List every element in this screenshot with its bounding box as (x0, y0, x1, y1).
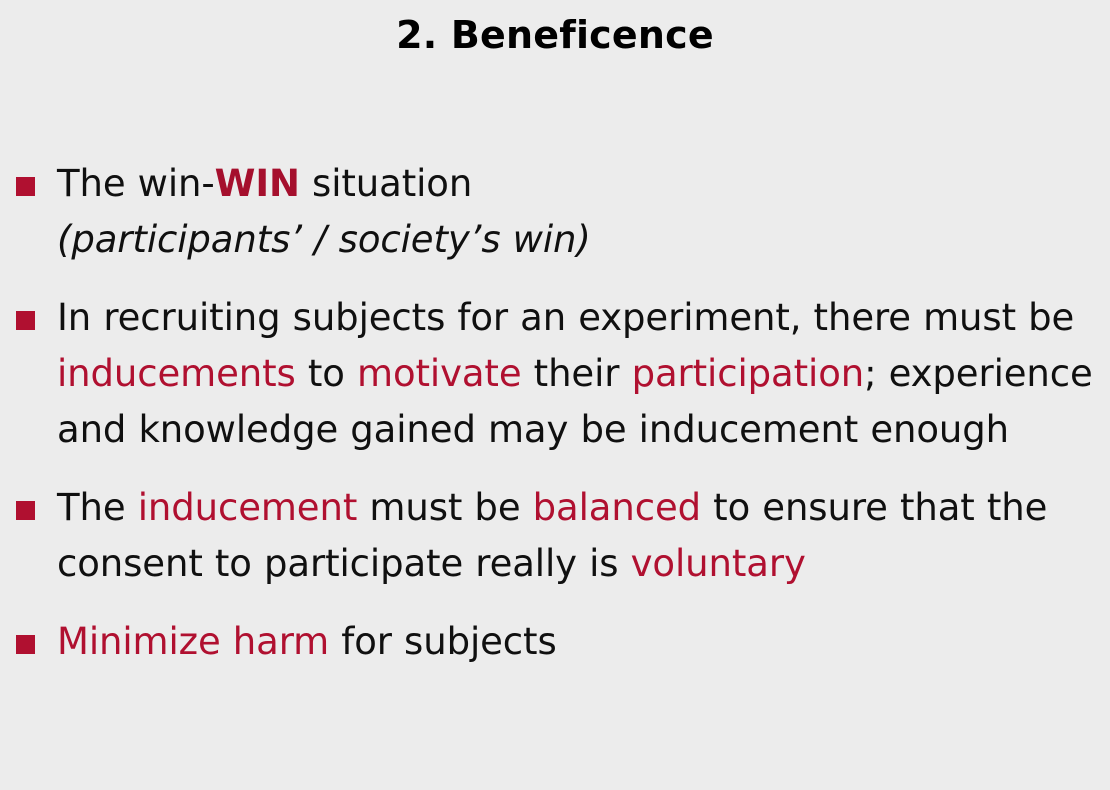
bullet-1-segment-2: situation (300, 162, 472, 205)
square-bullet-icon (16, 177, 35, 196)
list-item-inducements: In recruiting subjects for an experiment… (0, 290, 1110, 458)
bullet-2-highlight-participation: participation (632, 352, 865, 395)
bullet-2-segment-2: to (296, 352, 357, 395)
bullet-3-highlight-balanced: balanced (533, 486, 701, 529)
bullet-4-segment-1: for subjects (329, 620, 556, 663)
bullet-1-segment-1: The win- (57, 162, 215, 205)
bullet-3-highlight-inducement: inducement (138, 486, 358, 529)
bullet-1-emphasis-win: WIN (215, 162, 300, 205)
bullet-4-highlight-minimize-harm: Minimize harm (57, 620, 329, 663)
list-item-minimize-harm: Minimize harm for subjects (0, 614, 1110, 670)
bullet-list: The win-WIN situation (participants’ / s… (0, 156, 1110, 692)
bullet-2-highlight-inducements: inducements (57, 352, 296, 395)
slide-container: 2. Beneficence The win-WIN situation (pa… (0, 0, 1110, 790)
bullet-2-segment-1: In recruiting subjects for an experiment… (57, 296, 1074, 339)
bullet-text-minimize-harm: Minimize harm for subjects (57, 614, 1110, 670)
page-title: 2. Beneficence (0, 0, 1110, 58)
bullet-1-italic-note: (participants’ / society’s win) (57, 212, 1110, 268)
square-bullet-icon (16, 311, 35, 330)
bullet-2-segment-3: their (522, 352, 632, 395)
square-bullet-icon (16, 501, 35, 520)
bullet-text-balanced: The inducement must be balanced to ensur… (57, 480, 1110, 592)
bullet-3-segment-2: must be (357, 486, 532, 529)
bullet-3-segment-1: The (57, 486, 138, 529)
square-bullet-icon (16, 635, 35, 654)
bullet-3-highlight-voluntary: voluntary (631, 542, 806, 585)
list-item-balanced: The inducement must be balanced to ensur… (0, 480, 1110, 592)
bullet-text-win-win: The win-WIN situation (participants’ / s… (57, 156, 1110, 268)
bullet-2-highlight-motivate: motivate (357, 352, 522, 395)
bullet-text-inducements: In recruiting subjects for an experiment… (57, 290, 1110, 458)
list-item-win-win: The win-WIN situation (participants’ / s… (0, 156, 1110, 268)
